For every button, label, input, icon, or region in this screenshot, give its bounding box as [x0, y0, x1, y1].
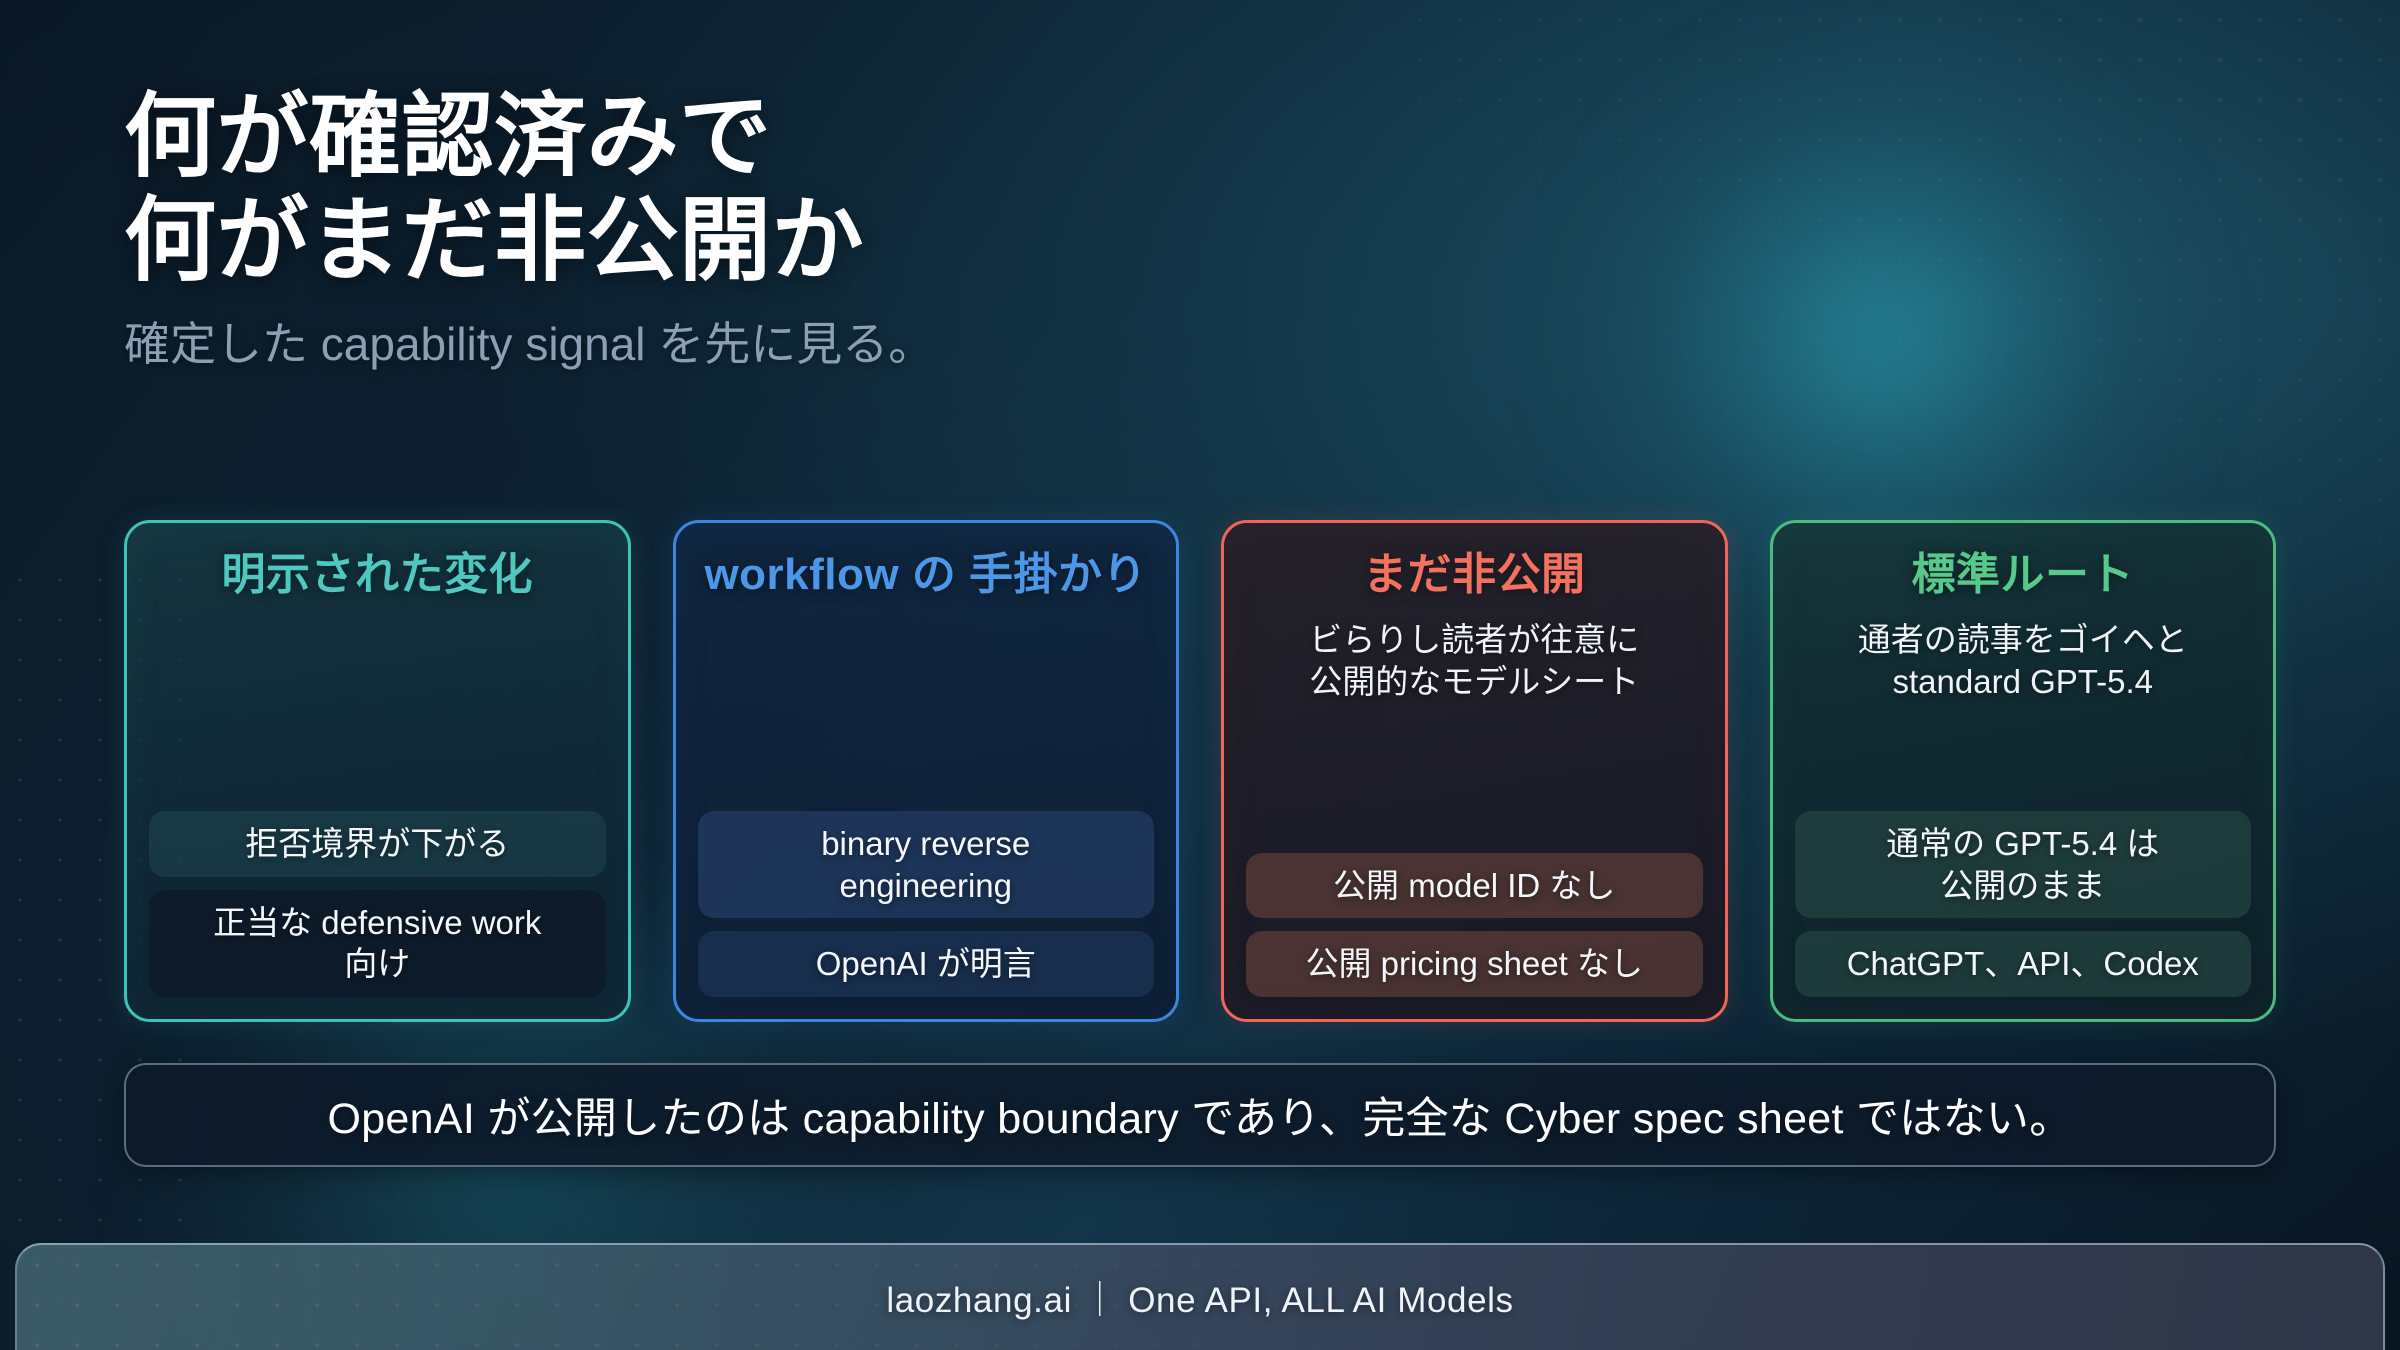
card-standard-route[interactable]: 標準ルート 通者の読事をゴイヘと standard GPT-5.4 通常の GP… [1770, 520, 2277, 1022]
card-explicit-change[interactable]: 明示された変化 拒否境界が下がる 正当な defensive work 向け [124, 520, 631, 1022]
summary-text: OpenAI が公開したのは capability boundary であり、完… [327, 1084, 2072, 1146]
card-not-public[interactable]: まだ非公開 ビらりし読者が往意に 公開的なモデルシート 公開 model ID … [1221, 520, 1728, 1022]
chip-item[interactable]: 通常の GPT-5.4 は 公開のまま [1795, 811, 2252, 918]
page-title: 何が確認済みで 何がまだ非公開か [124, 86, 1624, 294]
chip-list: 公開 model ID なし 公開 pricing sheet なし [1246, 853, 1703, 997]
chip-item[interactable]: 拒否境界が下がる [149, 811, 606, 877]
card-description: 通者の読事をゴイヘと standard GPT-5.4 [1858, 619, 2188, 703]
card-description: ビらりし読者が往意に 公開的なモデルシート [1309, 619, 1639, 703]
chip-list: binary reverse engineering OpenAI が明言 [698, 811, 1155, 997]
chip-item[interactable]: 公開 pricing sheet なし [1246, 931, 1703, 997]
footer-brand-text: laozhang.ai ｜ One API, ALL AI Models [886, 1272, 1513, 1323]
card-row: 明示された変化 拒否境界が下がる 正当な defensive work 向け w… [124, 520, 2276, 1022]
card-title: 標準ルート [1912, 549, 2135, 601]
card-title: 明示された変化 [222, 549, 534, 601]
chip-list: 拒否境界が下がる 正当な defensive work 向け [149, 811, 606, 997]
chip-item[interactable]: ChatGPT、API、Codex [1795, 931, 2252, 997]
card-title: まだ非公開 [1363, 549, 1586, 601]
slide-header: 何が確認済みで 何がまだ非公開か 確定した capability signal … [124, 86, 1624, 373]
chip-item[interactable]: binary reverse engineering [698, 811, 1155, 918]
card-title: workflow の 手掛かり [704, 549, 1147, 601]
page-subtitle: 確定した capability signal を先に見る。 [124, 316, 1624, 374]
chip-item[interactable]: 正当な defensive work 向け [149, 890, 606, 997]
card-workflow-clue[interactable]: workflow の 手掛かり binary reverse engineeri… [673, 520, 1180, 1022]
footer-bar: laozhang.ai ｜ One API, ALL AI Models [15, 1243, 2385, 1350]
summary-banner: OpenAI が公開したのは capability boundary であり、完… [124, 1063, 2276, 1167]
chip-list: 通常の GPT-5.4 は 公開のまま ChatGPT、API、Codex [1795, 811, 2252, 997]
chip-item[interactable]: OpenAI が明言 [698, 931, 1155, 997]
chip-item[interactable]: 公開 model ID なし [1246, 853, 1703, 919]
